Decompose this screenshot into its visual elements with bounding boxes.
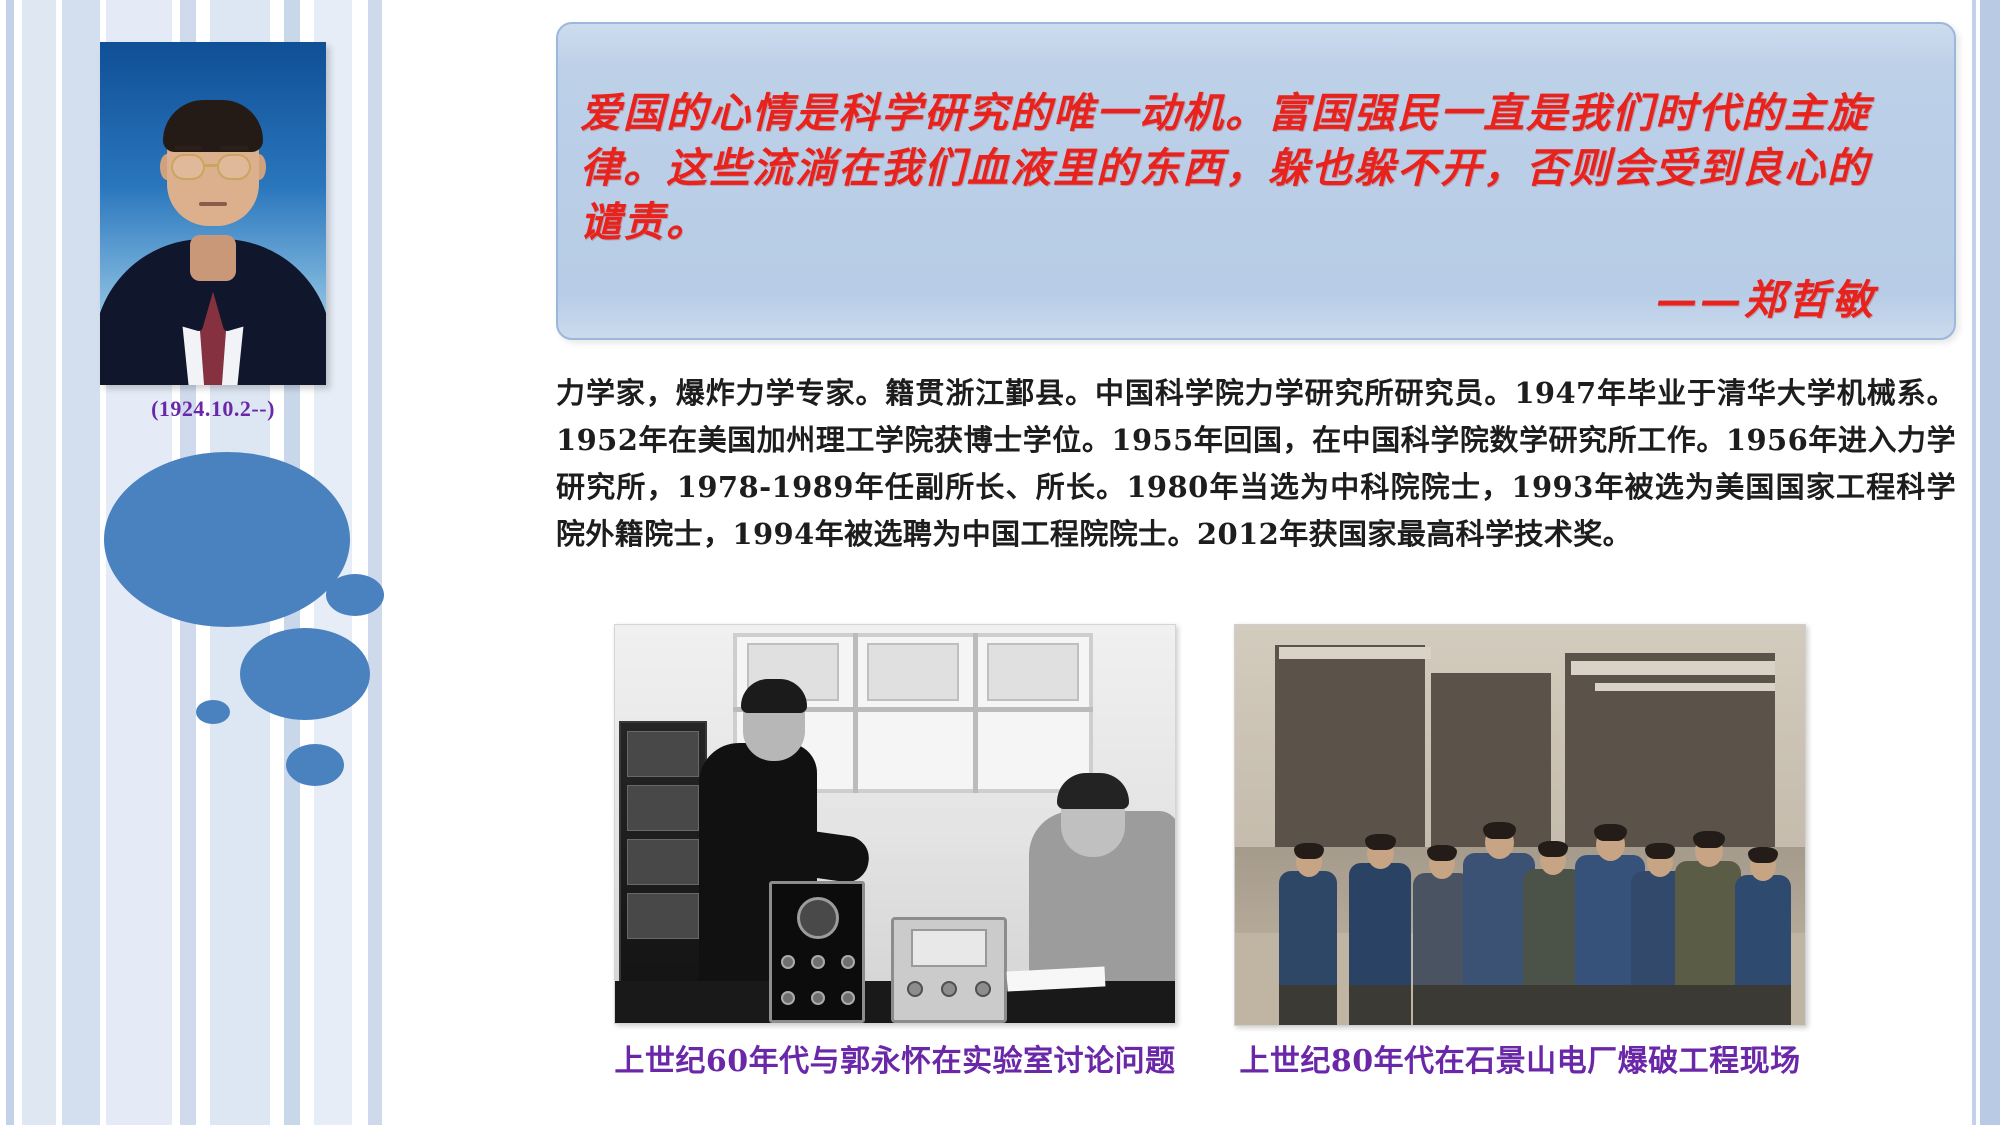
site-person-3-hair — [1427, 845, 1457, 861]
portrait-glasses-right-lens — [217, 154, 251, 180]
biography-paragraph: 力学家，爆炸力学专家。籍贯浙江鄞县。中国科学院力学研究所研究员。1947年毕业于… — [556, 370, 1956, 558]
lab-oscilloscope-knob-3 — [841, 955, 855, 969]
site-person-4-hair — [1483, 822, 1516, 839]
lab-rack-slot-4 — [627, 893, 699, 939]
site-person-2-torso — [1349, 863, 1411, 989]
site-person-5-hair — [1538, 841, 1568, 857]
site-person-1 — [1279, 839, 1337, 989]
decor-ellipse-large — [104, 452, 350, 627]
lab-window-divider-1 — [853, 633, 858, 793]
lab-instrument-knob-2 — [941, 981, 957, 997]
portrait-eyebrow-left — [174, 146, 202, 150]
decor-ellipse-tiny — [196, 700, 230, 724]
portrait-neck — [190, 235, 236, 281]
decor-ellipse-small-bottom — [286, 744, 344, 786]
site-person-8-torso — [1675, 861, 1741, 989]
lab-window-divider-2 — [973, 633, 978, 793]
quote-box: 爱国的心情是科学研究的唯一动机。富国强民一直是我们时代的主旋律。这些流淌在我们血… — [556, 22, 1956, 340]
site-steel-beam-2 — [1571, 661, 1775, 675]
portrait-eyebrow-right — [220, 146, 248, 150]
lab-rack-slot-1 — [627, 731, 699, 777]
lab-oscilloscope-knob-1 — [781, 955, 795, 969]
decor-ellipse-small-right — [326, 574, 384, 616]
site-person-7-hair — [1645, 843, 1675, 859]
site-person-5-torso — [1523, 869, 1583, 989]
lab-rack-slot-3 — [627, 839, 699, 885]
slide-canvas: (1924.10.2--) 爱国的心情是科学研究的唯一动机。富国强民一直是我们时… — [0, 0, 2000, 1125]
demolition-site-photo — [1234, 624, 1806, 1026]
site-person-1-hair — [1294, 843, 1324, 859]
site-person-1-torso — [1279, 871, 1337, 989]
right-stripe-decoration — [1958, 0, 2000, 1125]
lab-oscilloscope-knob-2 — [811, 955, 825, 969]
site-person-8-hair — [1693, 831, 1725, 848]
site-person-8-legs — [1675, 985, 1741, 1025]
lab-oscilloscope-screen — [797, 897, 839, 939]
lab-oscilloscope-knob-6 — [841, 991, 855, 1005]
site-person-2-legs — [1349, 985, 1411, 1025]
site-person-6-hair — [1594, 824, 1627, 841]
site-person-8 — [1675, 829, 1741, 989]
site-steel-beam-3 — [1595, 683, 1775, 691]
site-person-9-hair — [1748, 847, 1778, 863]
portrait-glasses-bridge — [205, 164, 217, 167]
lab-oscilloscope-knob-5 — [811, 991, 825, 1005]
lab-oscilloscope-knob-4 — [781, 991, 795, 1005]
portrait-photo — [100, 42, 326, 385]
lab-instrument-knob-3 — [975, 981, 991, 997]
decor-ellipse-medium — [240, 628, 370, 720]
lab-wall-chart-3 — [987, 643, 1079, 701]
lab-wall-chart-2 — [867, 643, 959, 701]
site-steel-beam-1 — [1279, 647, 1431, 659]
site-person-9-torso — [1735, 875, 1791, 989]
quote-text: 爱国的心情是科学研究的唯一动机。富国强民一直是我们时代的主旋律。这些流淌在我们血… — [580, 86, 1904, 250]
demolition-site-photo-caption: 上世纪80年代在石景山电厂爆破工程现场 — [1234, 1036, 1806, 1080]
site-person-2 — [1349, 829, 1411, 989]
site-person-1-legs — [1279, 985, 1337, 1025]
lab-discussion-photo-caption: 上世纪60年代与郭永怀在实验室讨论问题 — [614, 1036, 1176, 1080]
lab-instrument-display — [911, 929, 987, 967]
site-person-9 — [1735, 843, 1791, 989]
site-person-5 — [1523, 837, 1583, 989]
lab-rack-slot-2 — [627, 785, 699, 831]
portrait-date-label: (1924.10.2--) — [58, 396, 368, 422]
site-person-9-legs — [1735, 985, 1791, 1025]
quote-attribution: ——郑哲敏 — [580, 266, 1904, 326]
lab-instrument-knob-1 — [907, 981, 923, 997]
site-person-5-legs — [1523, 985, 1583, 1025]
site-person-2-hair — [1365, 834, 1396, 850]
portrait-glasses-left-lens — [171, 154, 205, 180]
portrait-mouth — [199, 202, 227, 206]
lab-discussion-photo — [614, 624, 1176, 1024]
